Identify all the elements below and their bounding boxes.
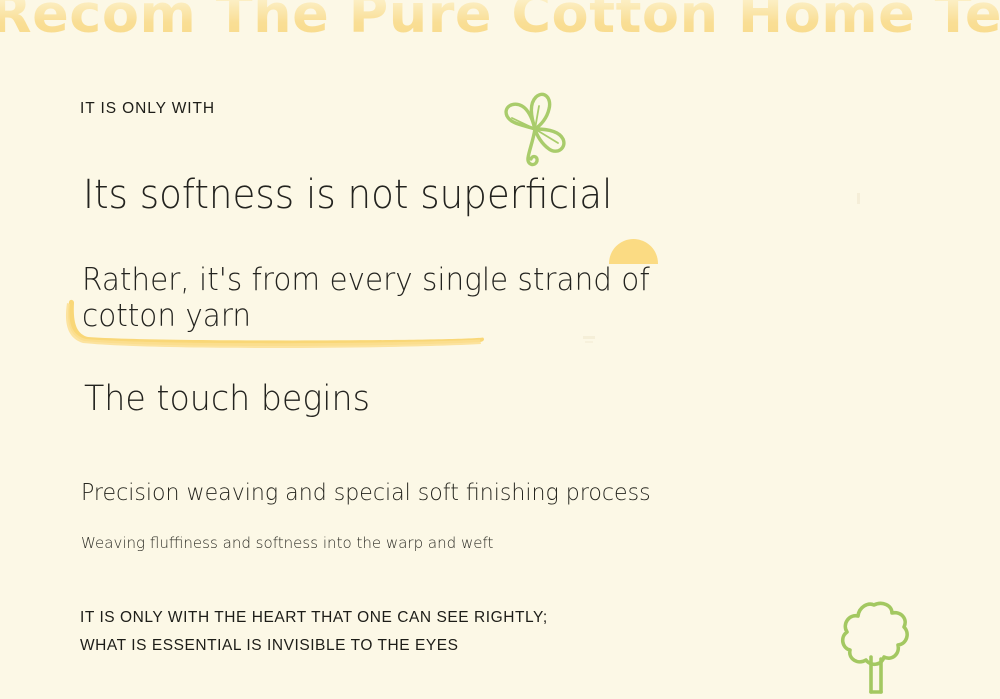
quote-line-2: WHAT IS ESSENTIAL IS INVISIBLE TO THE EY… xyxy=(80,632,548,660)
artifact-speck xyxy=(583,336,595,339)
banner-title-area: Recom The Pure Cotton Home Textiles xyxy=(0,0,1000,46)
headline-secondary: Rather, it's from every single strand of… xyxy=(82,262,709,334)
quote-block: IT IS ONLY WITH THE HEART THAT ONE CAN S… xyxy=(80,604,548,660)
eyebrow-label: IT IS ONLY WITH xyxy=(80,100,215,118)
quote-line-1: IT IS ONLY WITH THE HEART THAT ONE CAN S… xyxy=(80,604,548,632)
artifact-speck xyxy=(857,193,860,204)
banner-title: Recom The Pure Cotton Home Textiles xyxy=(0,0,1000,46)
clover-doodle-icon xyxy=(495,85,575,171)
artifact-speck xyxy=(585,341,593,343)
headline-tertiary: The touch begins xyxy=(84,375,370,423)
body-text-primary: Precision weaving and special soft finis… xyxy=(81,476,651,510)
headline-primary: Its softness is not superficial xyxy=(83,168,612,222)
tree-doodle-icon xyxy=(838,597,910,695)
body-text-secondary: Weaving fluffiness and softness into the… xyxy=(81,531,493,555)
poster-canvas: Recom The Pure Cotton Home Textiles IT I… xyxy=(0,0,1000,699)
sun-semicircle-shape xyxy=(609,239,658,264)
